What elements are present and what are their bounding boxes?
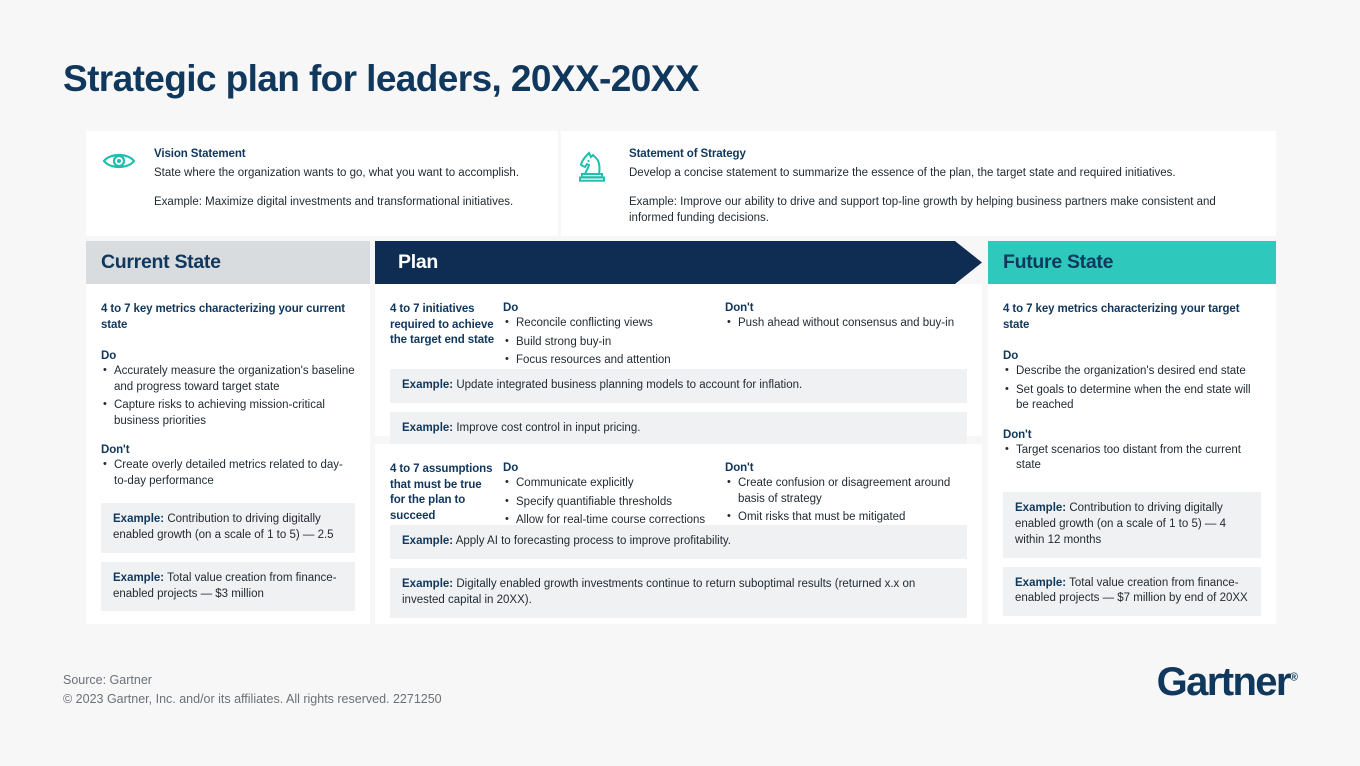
gartner-logo: Gartner® <box>1157 662 1298 702</box>
example-text: Update integrated business planning mode… <box>453 379 802 391</box>
plan-assumptions-dont-list: Create confusion or disagreement around … <box>725 476 967 526</box>
vision-heading: Vision Statement <box>154 148 542 160</box>
example-label: Example: <box>113 572 164 584</box>
vision-statement-card: Vision Statement State where the organiz… <box>86 131 558 236</box>
strategy-description: Develop a concise statement to summarize… <box>629 165 1260 182</box>
footer-copyright: © 2023 Gartner, Inc. and/or its affiliat… <box>63 690 442 709</box>
plan-assumptions-examples: Example: Apply AI to forecasting process… <box>390 525 967 618</box>
current-state-header-bar: Current State <box>86 241 370 284</box>
plan-initiatives-dont-label: Don't <box>725 302 967 314</box>
footer-source: Source: Gartner <box>63 671 442 690</box>
plan-label: Plan <box>398 251 438 274</box>
plan-assumptions-dont-label: Don't <box>725 462 967 474</box>
current-state-label: Current State <box>101 251 221 274</box>
plan-initiatives-dont-list: Push ahead without consensus and buy-in <box>725 316 967 332</box>
list-item: Specify quantifiable thresholds <box>503 495 715 511</box>
vision-example: Example: Maximize digital investments an… <box>154 194 542 211</box>
chess-knight-icon <box>577 147 629 236</box>
list-item: Accurately measure the organization's ba… <box>101 364 355 395</box>
example-text: Digitally enabled growth investments con… <box>402 578 915 606</box>
gartner-logo-text: Gartner <box>1157 660 1290 704</box>
example-text: Improve cost control in input pricing. <box>453 422 640 434</box>
vision-description: State where the organization wants to go… <box>154 165 542 182</box>
page-title: Strategic plan for leaders, 20XX-20XX <box>63 58 699 100</box>
example-box: Example: Contribution to driving digital… <box>1003 492 1261 558</box>
example-label: Example: <box>1015 577 1066 589</box>
eye-icon <box>102 147 154 236</box>
example-box: Example: Contribution to driving digital… <box>101 503 355 553</box>
plan-assumptions-lead: 4 to 7 assumptions that must be true for… <box>390 462 495 524</box>
list-item: Reconcile conflicting views <box>503 316 715 332</box>
list-item: Push ahead without consensus and buy-in <box>725 316 967 332</box>
current-state-lead: 4 to 7 key metrics characterizing your c… <box>101 302 355 333</box>
list-item: Describe the organization's desired end … <box>1003 364 1261 380</box>
list-item: Omit risks that must be mitigated <box>725 510 967 526</box>
strategy-heading: Statement of Strategy <box>629 148 1260 160</box>
list-item: Target scenarios too distant from the cu… <box>1003 443 1261 474</box>
list-item: Build strong buy-in <box>503 335 715 351</box>
future-state-lead: 4 to 7 key metrics characterizing your t… <box>1003 302 1261 333</box>
future-do-label: Do <box>1003 350 1261 362</box>
current-dont-list: Create overly detailed metrics related t… <box>101 458 355 489</box>
plan-initiatives-do-list: Reconcile conflicting views Build strong… <box>503 316 715 369</box>
current-do-label: Do <box>101 350 355 362</box>
example-box: Example: Total value creation from finan… <box>101 562 355 612</box>
example-box: Example: Digitally enabled growth invest… <box>390 568 967 618</box>
list-item: Capture risks to achieving mission-criti… <box>101 398 355 429</box>
example-box: Example: Update integrated business plan… <box>390 369 967 403</box>
example-text: Apply AI to forecasting process to impro… <box>453 535 731 547</box>
plan-initiatives-lead: 4 to 7 initiatives required to achieve t… <box>390 302 495 349</box>
plan-header-bar: Plan <box>375 241 982 284</box>
example-label: Example: <box>402 578 453 590</box>
example-box: Example: Improve cost control in input p… <box>390 412 967 446</box>
current-dont-label: Don't <box>101 444 355 456</box>
list-item: Focus resources and attention <box>503 353 715 369</box>
slide-canvas: Strategic plan for leaders, 20XX-20XX Vi… <box>0 0 1360 766</box>
future-dont-label: Don't <box>1003 429 1261 441</box>
plan-assumptions-do-label: Do <box>503 462 715 474</box>
example-label: Example: <box>402 422 453 434</box>
current-state-examples: Example: Contribution to driving digital… <box>101 503 355 611</box>
future-state-label: Future State <box>1003 251 1113 274</box>
list-item: Communicate explicitly <box>503 476 715 492</box>
list-item: Create confusion or disagreement around … <box>725 476 967 507</box>
list-item: Create overly detailed metrics related t… <box>101 458 355 489</box>
plan-assumptions-do-list: Communicate explicitly Specify quantifia… <box>503 476 715 529</box>
example-box: Example: Apply AI to forecasting process… <box>390 525 967 559</box>
future-do-list: Describe the organization's desired end … <box>1003 364 1261 414</box>
list-item: Set goals to determine when the end stat… <box>1003 383 1261 414</box>
plan-initiatives-examples: Example: Update integrated business plan… <box>390 369 967 446</box>
example-label: Example: <box>1015 502 1066 514</box>
example-label: Example: <box>402 535 453 547</box>
current-do-list: Accurately measure the organization's ba… <box>101 364 355 429</box>
statement-of-strategy-card: Statement of Strategy Develop a concise … <box>561 131 1276 236</box>
footer: Source: Gartner © 2023 Gartner, Inc. and… <box>63 671 442 708</box>
strategy-example: Example: Improve our ability to drive an… <box>629 194 1260 227</box>
example-label: Example: <box>113 513 164 525</box>
example-label: Example: <box>402 379 453 391</box>
registered-trademark-icon: ® <box>1290 672 1298 684</box>
future-dont-list: Target scenarios too distant from the cu… <box>1003 443 1261 474</box>
plan-initiatives-do-label: Do <box>503 302 715 314</box>
future-state-header-bar: Future State <box>988 241 1276 284</box>
future-state-examples: Example: Contribution to driving digital… <box>1003 492 1261 616</box>
example-box: Example: Total value creation from finan… <box>1003 567 1261 617</box>
